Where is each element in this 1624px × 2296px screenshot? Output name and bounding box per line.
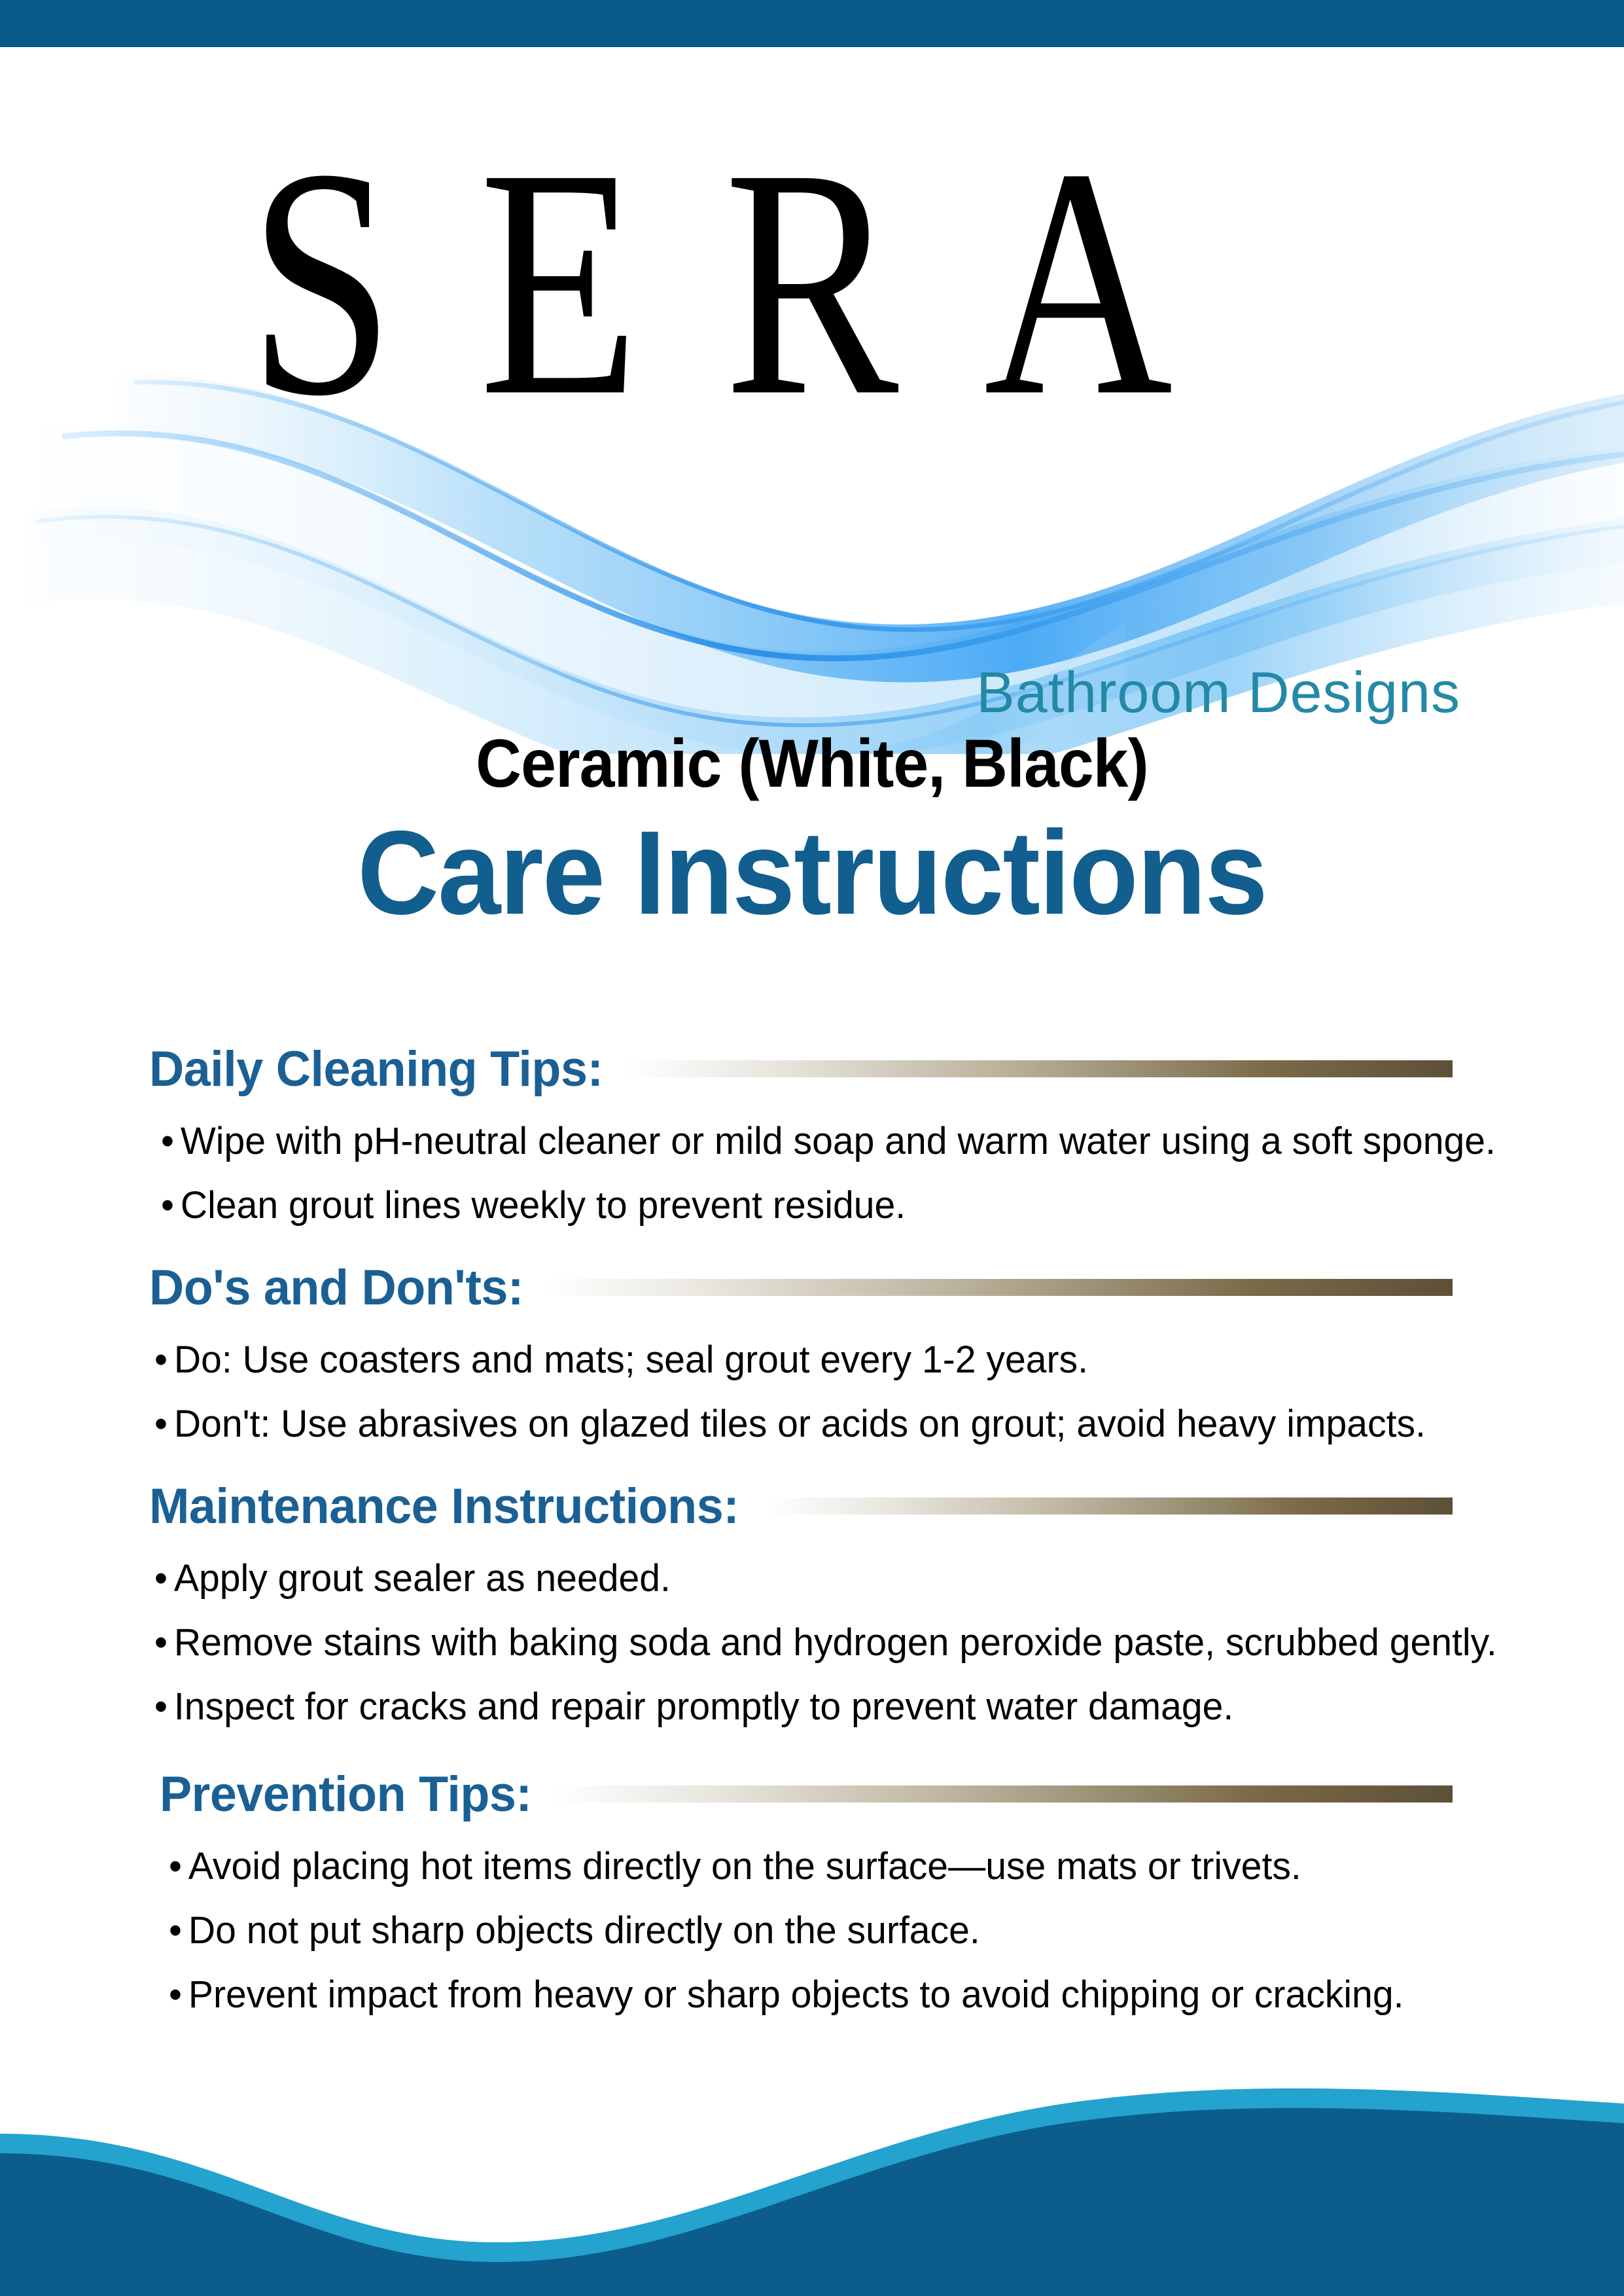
bullet-list: •Wipe with pH-neutral cleaner or mild so… (161, 1122, 1453, 1225)
list-item: •Apply grout sealer as needed. (154, 1560, 1433, 1598)
bullet-dot-icon: • (161, 1184, 174, 1227)
top-accent-bar (0, 0, 1624, 47)
bullet-dot-icon: • (169, 1973, 182, 2016)
list-item-text: Avoid placing hot items directly on the … (188, 1845, 1301, 1888)
section-header: Maintenance Instructions: (149, 1475, 1453, 1537)
page-title: Care Instructions (41, 810, 1583, 935)
product-subtitle: Ceramic (White, Black) (57, 726, 1567, 801)
bullet-dot-icon: • (154, 1557, 168, 1600)
section-dos-and-donts: Do's and Don'ts: •Do: Use coasters and m… (149, 1256, 1453, 1443)
list-item-text: Apply grout sealer as needed. (174, 1557, 671, 1600)
bullet-list: •Apply grout sealer as needed. •Remove s… (154, 1560, 1453, 1726)
section-daily-cleaning-tips: Daily Cleaning Tips: •Wipe with pH-neutr… (149, 1037, 1453, 1225)
bullet-dot-icon: • (154, 1403, 168, 1445)
section-divider-rule (626, 1060, 1453, 1077)
footer-wave-graphic (0, 2073, 1624, 2296)
list-item: •Remove stains with baking soda and hydr… (154, 1624, 1433, 1662)
brand-tagline: Bathroom Designs (976, 659, 1460, 726)
section-divider-rule (766, 1498, 1453, 1515)
list-item-text: Don't: Use abrasives on glazed tiles or … (174, 1403, 1426, 1445)
section-title-dos-and-donts: Do's and Don'ts: (149, 1259, 523, 1316)
section-header: Daily Cleaning Tips: (149, 1037, 1453, 1100)
section-header: Prevention Tips: (160, 1763, 1453, 1825)
list-item: •Prevent impact from heavy or sharp obje… (169, 1976, 1434, 2014)
list-item-text: Do: Use coasters and mats; seal grout ev… (174, 1338, 1088, 1381)
bullet-dot-icon: • (169, 1909, 182, 1952)
content-sections: Daily Cleaning Tips: •Wipe with pH-neutr… (0, 1037, 1624, 2040)
list-item: •Do not put sharp objects directly on th… (169, 1912, 1434, 1950)
list-item-text: Remove stains with baking soda and hydro… (174, 1621, 1497, 1664)
list-item-text: Do not put sharp objects directly on the… (188, 1909, 980, 1952)
bullet-list: •Do: Use coasters and mats; seal grout e… (154, 1341, 1453, 1443)
section-divider-rule (544, 1279, 1453, 1296)
section-header: Do's and Don'ts: (149, 1256, 1453, 1319)
list-item: •Clean grout lines weekly to prevent res… (161, 1187, 1433, 1225)
list-item: •Do: Use coasters and mats; seal grout e… (154, 1341, 1433, 1379)
section-divider-rule (552, 1785, 1453, 1803)
section-maintenance-instructions: Maintenance Instructions: •Apply grout s… (149, 1475, 1453, 1726)
list-item-text: Prevent impact from heavy or sharp objec… (188, 1973, 1404, 2016)
list-item: •Wipe with pH-neutral cleaner or mild so… (161, 1122, 1433, 1160)
list-item: •Inspect for cracks and repair promptly … (154, 1688, 1433, 1726)
title-block: Ceramic (White, Black) Care Instructions (0, 726, 1624, 935)
section-title-maintenance-instructions: Maintenance Instructions: (149, 1478, 739, 1535)
list-item-text: Clean grout lines weekly to prevent resi… (181, 1184, 906, 1227)
list-item: •Avoid placing hot items directly on the… (169, 1848, 1434, 1886)
bullet-list: •Avoid placing hot items directly on the… (169, 1848, 1453, 2014)
header-logo-block: SERA (0, 47, 1624, 702)
bullet-dot-icon: • (154, 1621, 168, 1664)
list-item-text: Wipe with pH-neutral cleaner or mild soa… (181, 1120, 1496, 1162)
section-title-prevention-tips: Prevention Tips: (160, 1766, 531, 1823)
bullet-dot-icon: • (154, 1338, 168, 1381)
bullet-dot-icon: • (161, 1120, 174, 1162)
bullet-dot-icon: • (154, 1685, 168, 1728)
list-item-text: Inspect for cracks and repair promptly t… (174, 1685, 1233, 1728)
bullet-dot-icon: • (169, 1845, 182, 1888)
section-title-daily-cleaning-tips: Daily Cleaning Tips: (149, 1041, 603, 1098)
section-prevention-tips: Prevention Tips: •Avoid placing hot item… (160, 1763, 1453, 2014)
list-item: •Don't: Use abrasives on glazed tiles or… (154, 1405, 1433, 1443)
brand-wordmark: SERA (249, 119, 1426, 446)
